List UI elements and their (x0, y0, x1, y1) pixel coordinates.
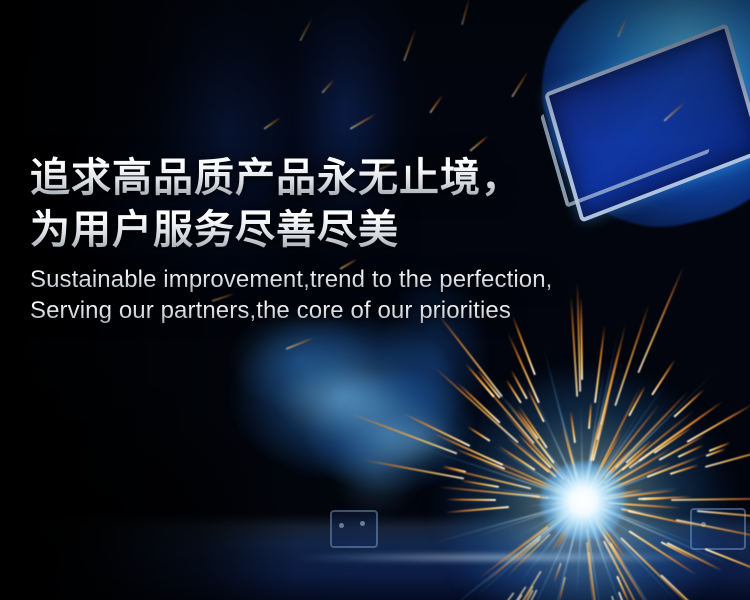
bolt-icon (360, 521, 365, 526)
spark-streak (403, 29, 417, 62)
spark-streak (651, 360, 675, 396)
spark-streak (321, 79, 335, 94)
spark-streak (299, 18, 313, 42)
bolt-icon (339, 523, 344, 528)
hero-banner: 追求高品质产品永无止境， 为用户服务尽善尽美 Sustainable impro… (0, 0, 750, 600)
spark-streak (263, 117, 281, 130)
spark-streak (469, 135, 489, 152)
workpiece-bracket (330, 510, 378, 548)
banner-text-block: 追求高品质产品永无止境， 为用户服务尽善尽美 Sustainable impro… (30, 152, 730, 326)
subhead-line-2: Serving our partners,the core of our pri… (30, 295, 730, 326)
subhead-line-1: Sustainable improvement,trend to the per… (30, 264, 730, 295)
spark-streak (350, 113, 377, 130)
headline-line-1: 追求高品质产品永无止境， (30, 152, 730, 204)
spark-streak (511, 71, 529, 98)
spark-streak (429, 94, 443, 113)
spark-streak (461, 0, 470, 25)
welding-arc (540, 462, 626, 540)
subhead-group: Sustainable improvement,trend to the per… (30, 264, 730, 326)
headline-line-2: 为用户服务尽善尽美 (30, 204, 730, 256)
